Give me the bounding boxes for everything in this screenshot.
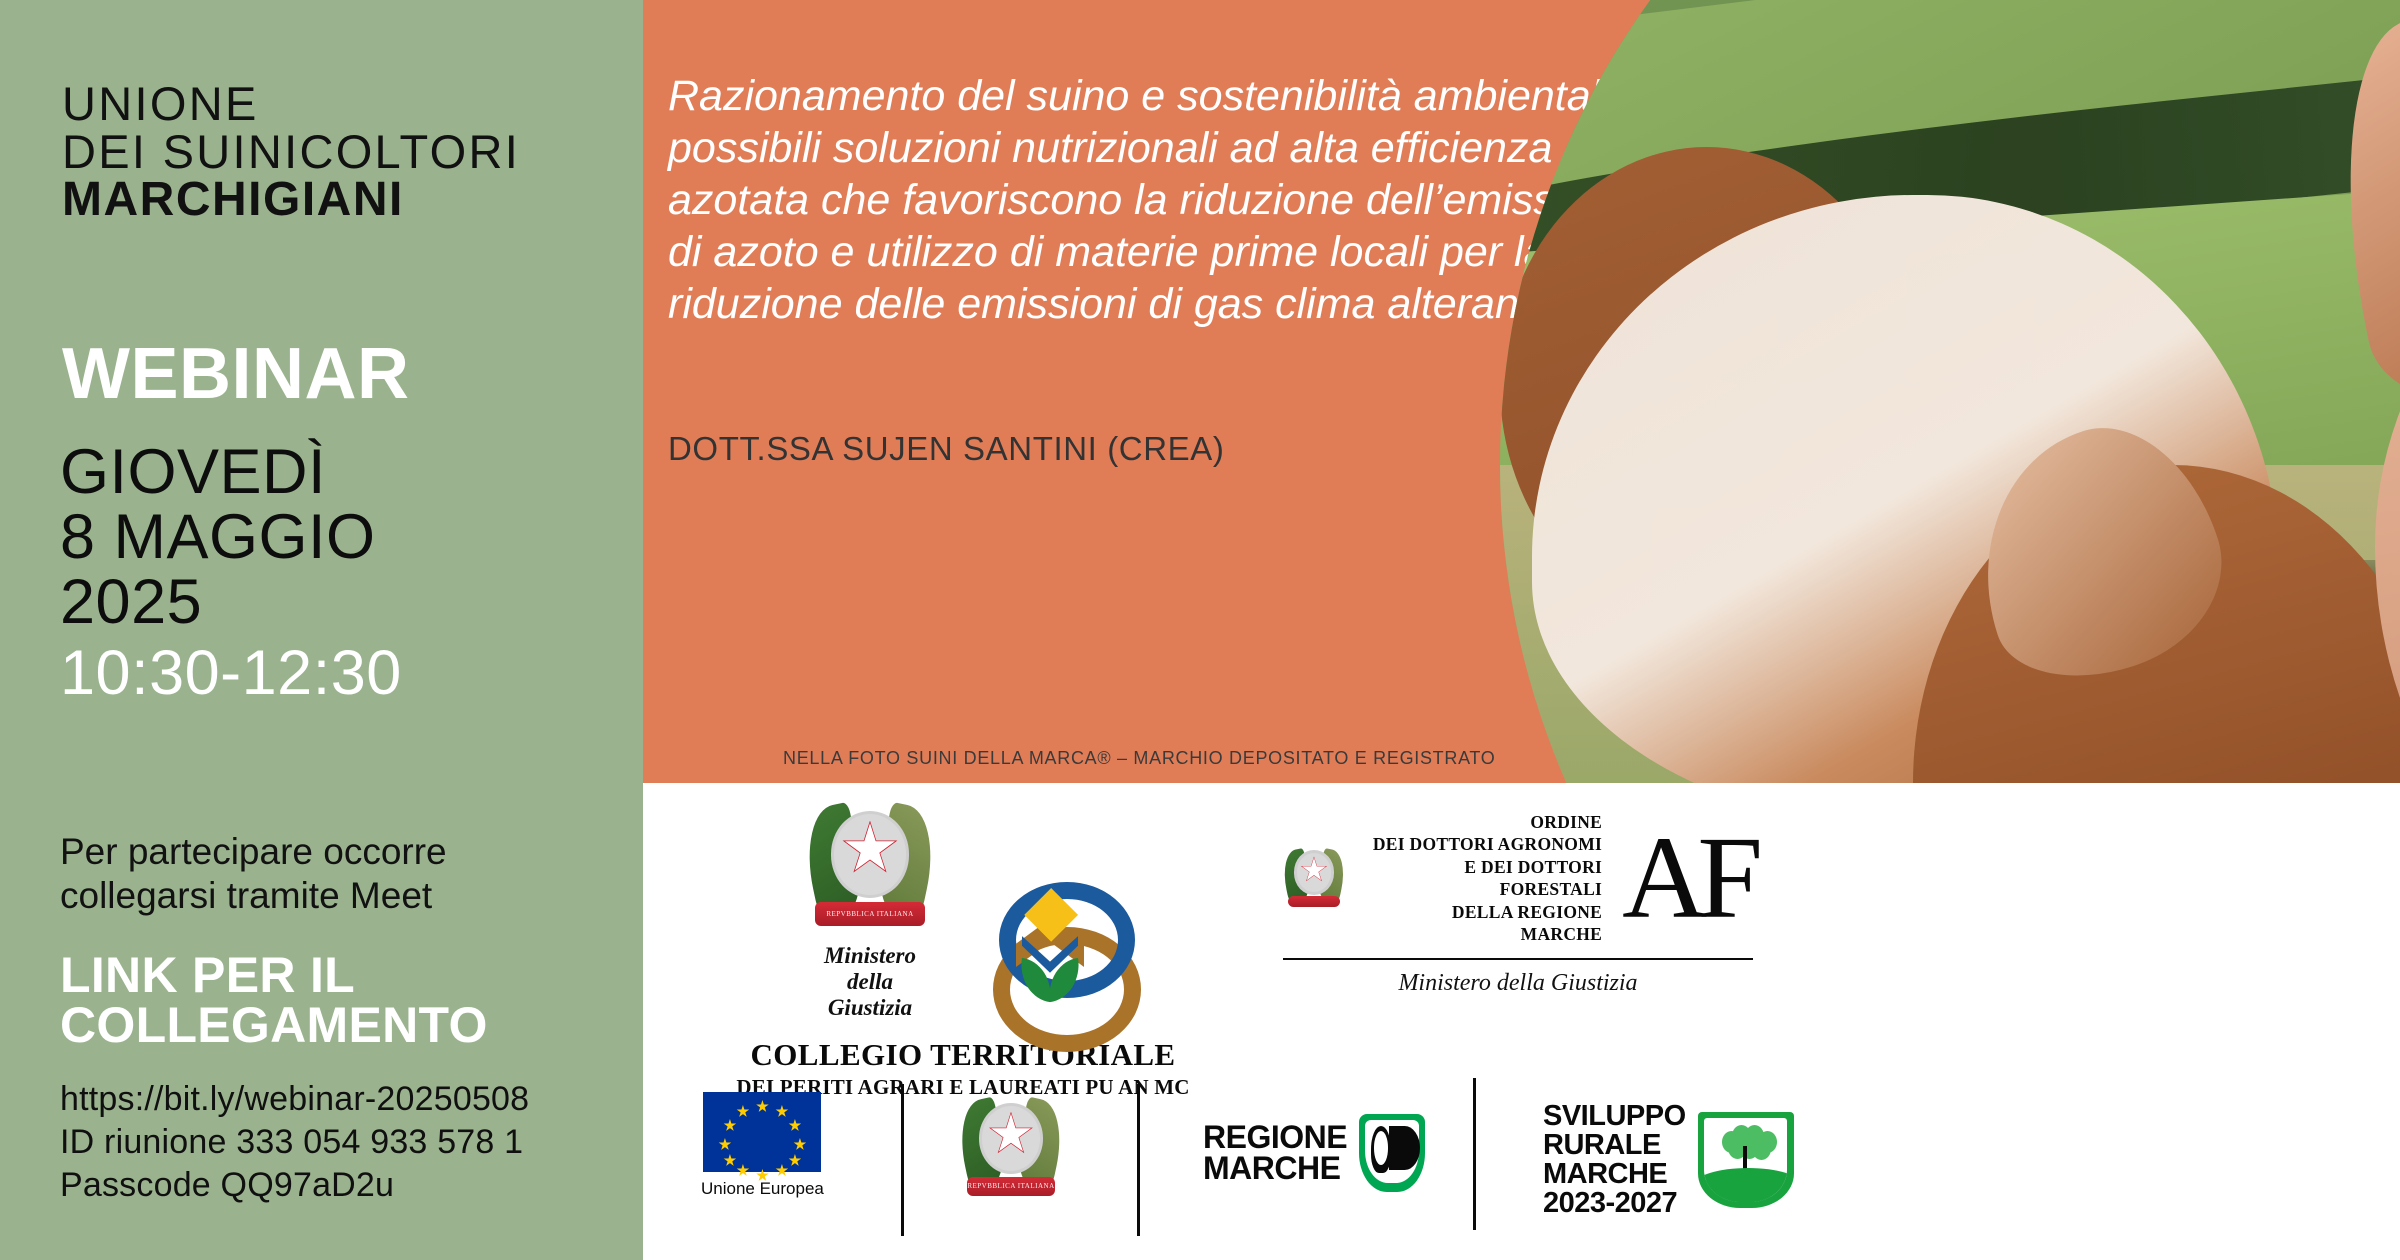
regione-marche-lockup: REGIONE MARCHE [1203, 1114, 1425, 1192]
org-line-1: UNIONE [62, 80, 520, 128]
periti-agrari-rings-icon [979, 879, 1121, 1021]
event-type-label: WEBINAR [62, 338, 409, 410]
logo-sviluppo-rurale-marche: SVILUPPO RURALE MARCHE 2023-2027 [1543, 1102, 1794, 1218]
logo-row-top: REPVBBLICA ITALIANA Ministero della Gius… [643, 783, 1803, 1073]
date-line-day: GIOVEDÌ [60, 440, 402, 505]
agronomi-ministry-caption: Ministero della Giustizia [1283, 970, 1753, 997]
event-time: 10:30-12:30 [60, 641, 402, 706]
regione-marche-text: REGIONE MARCHE [1203, 1122, 1347, 1183]
sviluppo-rurale-tree-icon [1698, 1112, 1794, 1208]
agronomi-line-1: ORDINE [1361, 811, 1602, 833]
link-heading: LINK PER IL COLLEGAMENTO [60, 950, 488, 1050]
logo-unione-europea: Unione Europea [701, 1092, 824, 1199]
sviluppo-rurale-lockup: SVILUPPO RURALE MARCHE 2023-2027 [1543, 1102, 1794, 1218]
emblem-ribbon-text: REPVBBLICA ITALIANA [967, 1177, 1054, 1196]
org-line-2: DEI SUINICOLTORI [62, 128, 520, 176]
ministero-giustizia-caption: Ministero della Giustizia [805, 943, 935, 1021]
eu-flag-icon [703, 1092, 821, 1172]
agronomi-line-3: E DEI DOTTORI FORESTALI [1361, 856, 1602, 901]
webinar-poster: UNIONE DEI SUINICOLTORI MARCHIGIANI WEBI… [0, 0, 2400, 1260]
logo-ordine-agronomi-forestali: ORDINE DEI DOTTORI AGRONOMI E DEI DOTTOR… [1283, 811, 1753, 997]
divider-3 [1473, 1078, 1476, 1230]
sponsor-logo-area: REPVBBLICA ITALIANA Ministero della Gius… [643, 783, 2400, 1260]
connection-details: https://bit.ly/webinar-20250508 ID riuni… [60, 1078, 529, 1206]
link-heading-line-1: LINK PER IL [60, 950, 488, 1000]
logo-regione-marche: REGIONE MARCHE [1203, 1114, 1425, 1192]
periti-marks: REPVBBLICA ITALIANA Ministero della Gius… [703, 801, 1223, 1021]
meeting-passcode: Passcode QQ97aD2u [60, 1164, 529, 1207]
agronomi-divider [1283, 958, 1753, 960]
logo-row-bottom: Unione Europea REPVBBLICA ITALIANA [643, 1078, 1763, 1253]
collegio-title: COLLEGIO TERRITORIALE [703, 1037, 1223, 1073]
agronomi-monogram: AF [1622, 830, 1753, 927]
repubblica-italiana-emblem-icon [1283, 847, 1345, 909]
org-line-3: MARCHIGIANI [62, 176, 520, 225]
eu-caption: Unione Europea [701, 1179, 824, 1199]
date-line-date: 8 MAGGIO [60, 505, 402, 570]
event-date-time: GIOVEDÌ 8 MAGGIO 2025 10:30-12:30 [60, 440, 402, 706]
agronomi-text-lines: ORDINE DEI DOTTORI AGRONOMI E DEI DOTTOR… [1361, 811, 1602, 945]
divider-1 [901, 1084, 904, 1236]
organization-name: UNIONE DEI SUINICOLTORI MARCHIGIANI [62, 80, 520, 225]
left-info-panel: UNIONE DEI SUINICOLTORI MARCHIGIANI WEBI… [0, 0, 643, 1260]
logo-collegio-periti-agrari: REPVBBLICA ITALIANA Ministero della Gius… [703, 801, 1223, 1100]
sviluppo-rurale-line-2: RURALE [1543, 1131, 1686, 1160]
sviluppo-rurale-line-1: SVILUPPO [1543, 1102, 1686, 1131]
repubblica-italiana-emblem-icon: REPVBBLICA ITALIANA [805, 801, 935, 931]
sviluppo-rurale-text: SVILUPPO RURALE MARCHE 2023-2027 [1543, 1102, 1686, 1218]
date-line-year: 2025 [60, 570, 402, 635]
link-heading-line-2: COLLEGAMENTO [60, 1000, 488, 1050]
agronomi-line-5: MARCHE [1361, 923, 1602, 945]
meeting-id: ID riunione 333 054 933 578 1 [60, 1121, 529, 1164]
ministero-giustizia-mark: REPVBBLICA ITALIANA Ministero della Gius… [805, 801, 935, 1021]
regione-marche-shield-icon [1359, 1114, 1425, 1192]
speaker-name: DOTT.SSA SUJEN SANTINI (CREA) [668, 430, 1224, 468]
logo-repubblica-italiana: REPVBBLICA ITALIANA [959, 1096, 1063, 1200]
participation-note-line-1: Per partecipare occorre [60, 830, 620, 874]
participation-note: Per partecipare occorre collegarsi trami… [60, 830, 620, 919]
meeting-url[interactable]: https://bit.ly/webinar-20250508 [60, 1078, 529, 1121]
divider-2 [1137, 1084, 1140, 1236]
sviluppo-rurale-line-4: 2023-2027 [1543, 1189, 1686, 1218]
regione-marche-line-1: REGIONE [1203, 1122, 1347, 1153]
photo-credit-caption: NELLA FOTO SUINI DELLA MARCA® – MARCHIO … [783, 748, 1496, 769]
agronomi-line-4: DELLA REGIONE [1361, 901, 1602, 923]
sviluppo-rurale-line-3: MARCHE [1543, 1160, 1686, 1189]
repubblica-italiana-emblem-icon: REPVBBLICA ITALIANA [959, 1096, 1063, 1200]
agronomi-line-2: DEI DOTTORI AGRONOMI [1361, 833, 1602, 855]
regione-marche-line-2: MARCHE [1203, 1153, 1347, 1184]
participation-note-line-2: collegarsi tramite Meet [60, 874, 620, 918]
emblem-ribbon-text: REPVBBLICA ITALIANA [815, 902, 924, 925]
agronomi-header: ORDINE DEI DOTTORI AGRONOMI E DEI DOTTOR… [1283, 811, 1753, 945]
